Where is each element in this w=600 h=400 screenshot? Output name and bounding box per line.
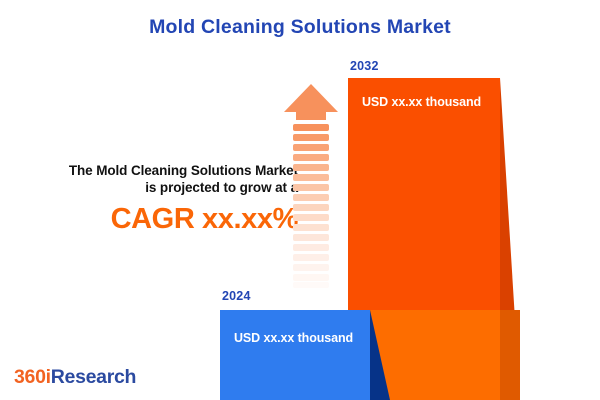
statement-line-2: is projected to grow at a — [8, 179, 298, 196]
bar-base-2024: USD xx.xx thousand — [220, 310, 390, 400]
bar-base-front-face — [220, 310, 370, 400]
page-title: Mold Cleaning Solutions Market — [0, 16, 600, 39]
logo-text-360i: 360i — [14, 366, 51, 388]
bar-forecast-overlap-side — [500, 310, 520, 400]
growth-statement: The Mold Cleaning Solutions Market is pr… — [8, 162, 298, 236]
brand-logo: 360iResearch — [14, 366, 136, 389]
bar-value-label-2024: USD xx.xx thousand — [234, 331, 353, 345]
cagr-value: CAGR xx.xx% — [8, 202, 298, 236]
year-label-2024: 2024 — [222, 289, 251, 303]
year-label-2032: 2032 — [350, 59, 379, 73]
logo-text-research: Research — [51, 366, 136, 388]
bar-base-side-face — [370, 310, 390, 400]
growth-arrow-icon — [282, 82, 340, 290]
infographic-canvas: Mold Cleaning Solutions Market The Mold … — [0, 0, 600, 400]
statement-line-1: The Mold Cleaning Solutions Market — [8, 162, 298, 179]
bar-value-label-2032: USD xx.xx thousand — [362, 95, 481, 109]
